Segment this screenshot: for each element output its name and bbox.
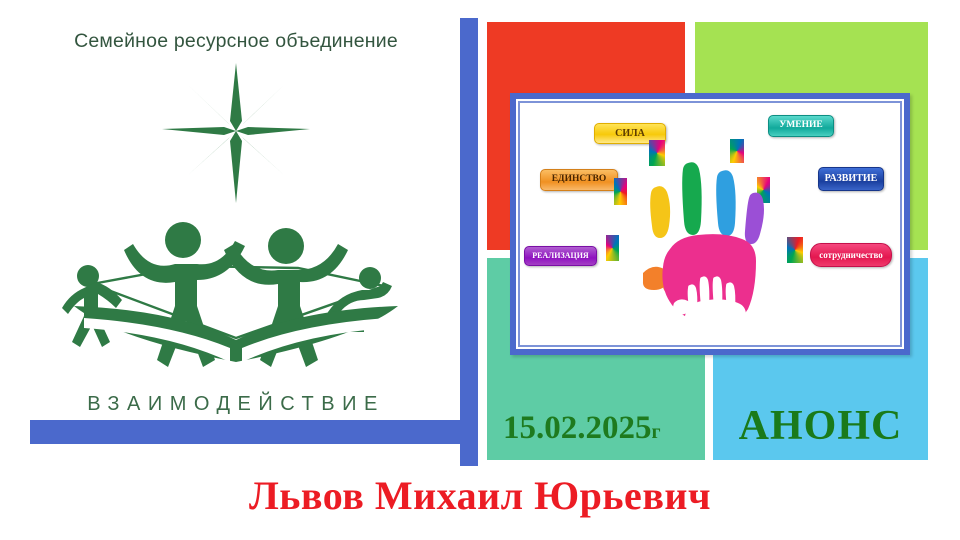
chip-edinstvo: ЕДИНСТВО [540, 169, 618, 191]
speaker-name: Львов Михаил Юрьевич [0, 472, 960, 519]
chip-umenie: УМЕНИЕ [768, 115, 834, 137]
chip-realizaciya: РЕАЛИЗАЦИЯ [524, 246, 597, 266]
chip-razvitie: РАЗВИТИЕ [818, 167, 884, 191]
announcement-label: АНОНС [713, 402, 928, 450]
picture-canvas: СИЛА ЕДИНСТВО РЕАЛИЗАЦИЯ УМЕНИЕ РАЗВИТИЕ… [522, 105, 898, 343]
picture-frame-inner-line: СИЛА ЕДИНСТВО РЕАЛИЗАЦИЯ УМЕНИЕ РАЗВИТИЕ… [518, 101, 902, 347]
framed-picture: СИЛА ЕДИНСТВО РЕАЛИЗАЦИЯ УМЕНИЕ РАЗВИТИЕ… [510, 93, 910, 355]
picture-frame-inner-white: СИЛА ЕДИНСТВО РЕАЛИЗАЦИЯ УМЕНИЕ РАЗВИТИЕ… [516, 99, 904, 349]
family-on-book-icon [40, 188, 432, 388]
eight-point-star-icon [162, 63, 310, 203]
logo-right-blue-bar [460, 18, 478, 466]
page-title: Семейное ресурсное объединение [12, 30, 460, 53]
chip-sotrudnichestvo: сотрудничество [810, 243, 892, 267]
decor-letter-p-left-icon: p [606, 235, 619, 261]
event-date-value: 15.02.2025 [503, 410, 652, 446]
decor-letter-e-icon: e [614, 178, 627, 205]
event-date: 15.02.2025г [493, 410, 705, 447]
event-date-suffix: г [652, 421, 661, 443]
logo-bottom-blue-bar [30, 418, 478, 444]
painted-hand-icon [630, 157, 790, 323]
logo-wordmark: ВЗАИМОДЕЙСТВИЕ [12, 393, 460, 416]
organisation-logo-card: Семейное ресурсное объединение [12, 8, 460, 420]
slide-canvas: Семейное ресурсное объединение [0, 0, 960, 540]
